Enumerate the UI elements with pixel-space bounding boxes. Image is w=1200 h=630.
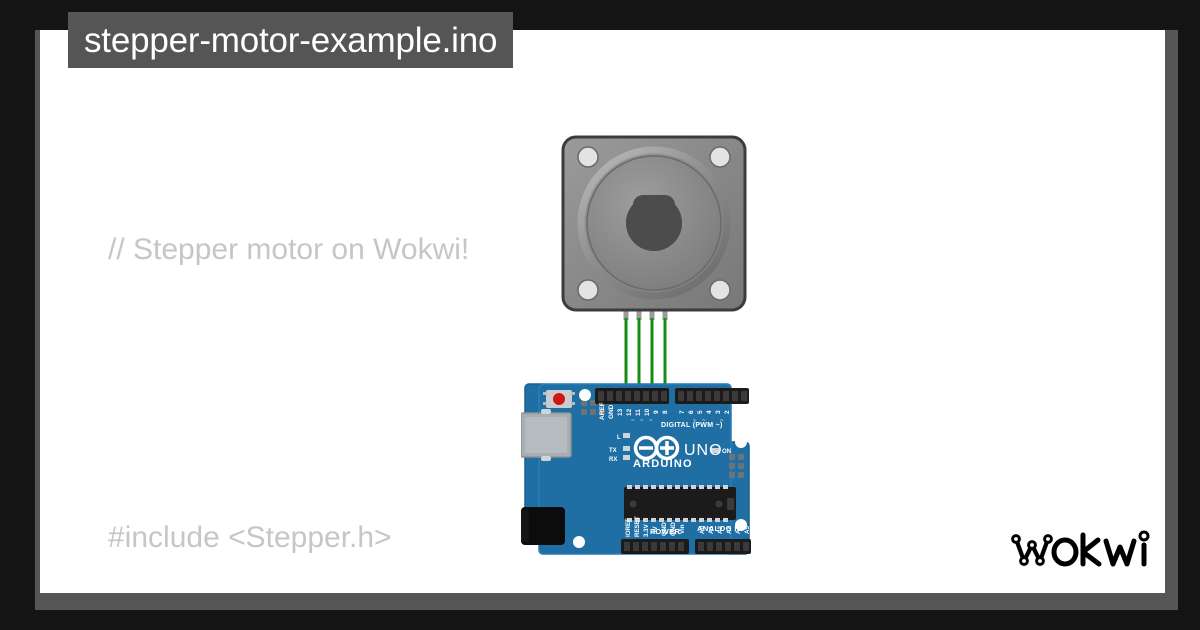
barrel-power-jack [521, 507, 565, 545]
digital-header-left [595, 388, 669, 404]
svg-text:~: ~ [631, 418, 635, 424]
svg-text:12: 12 [626, 408, 633, 416]
svg-text:5: 5 [697, 410, 704, 414]
svg-text:POWER: POWER [650, 527, 681, 536]
svg-text:~: ~ [640, 418, 644, 424]
svg-text:DIGITAL (PWM ~): DIGITAL (PWM ~) [661, 422, 723, 429]
svg-text:4: 4 [706, 410, 713, 414]
svg-text:GND: GND [608, 404, 615, 419]
svg-text:7: 7 [679, 410, 686, 414]
svg-text:8: 8 [662, 410, 669, 414]
svg-text:11: 11 [635, 409, 642, 416]
svg-text:IOREF: IOREF [625, 518, 632, 537]
power-header [621, 539, 689, 554]
svg-text:13: 13 [617, 408, 624, 416]
svg-text:3.3V: 3.3V [643, 523, 650, 537]
svg-text:UNO: UNO [684, 442, 723, 459]
arduino-uno-board: AREF GND 13 12 11 10 9 8 7 6 5 4 3 2 TX … [521, 382, 753, 557]
svg-text:ARDUINO: ARDUINO [633, 458, 693, 470]
svg-text:AREF: AREF [599, 402, 606, 420]
svg-text:TX: TX [733, 407, 740, 416]
usb-b-connector [521, 409, 571, 461]
svg-text:RESET: RESET [634, 516, 641, 537]
svg-text:9: 9 [653, 410, 660, 414]
svg-text:10: 10 [644, 408, 651, 416]
svg-text:6: 6 [688, 410, 695, 414]
wokwi-logo [1010, 525, 1152, 573]
reset-button [543, 390, 575, 408]
svg-text:2: 2 [724, 410, 731, 414]
svg-text:3: 3 [715, 410, 722, 414]
svg-text:~: ~ [649, 418, 653, 424]
svg-text:RX: RX [609, 457, 617, 463]
svg-text:RX: RX [742, 406, 749, 416]
screenshot-root: // Stepper motor on Wokwi! #include <Ste… [0, 0, 1200, 630]
filename-title-chip: stepper-motor-example.ino [68, 12, 513, 68]
svg-text:ANALOG IN: ANALOG IN [697, 524, 743, 533]
svg-text:A5: A5 [744, 526, 751, 534]
filename-label: stepper-motor-example.ino [84, 23, 497, 58]
svg-text:TX: TX [609, 448, 617, 454]
svg-text:L: L [617, 435, 621, 441]
digital-header-right [675, 388, 749, 404]
code-card: // Stepper motor on Wokwi! #include <Ste… [40, 30, 1165, 593]
analog-header [695, 539, 751, 554]
stepper-motor [561, 135, 747, 312]
